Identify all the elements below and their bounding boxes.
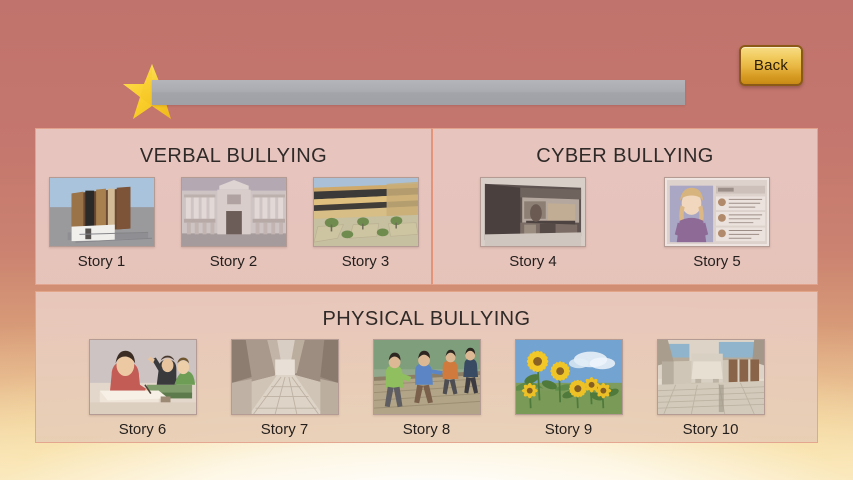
progress-bar (152, 80, 685, 105)
story-card-5[interactable]: Story 5 (664, 177, 770, 270)
back-button[interactable]: Back (739, 45, 803, 86)
story-card-7[interactable]: Story 7 (231, 339, 339, 438)
panel-title-cyber: CYBER BULLYING (433, 145, 817, 168)
story-card-2[interactable]: Story 2 (181, 177, 287, 270)
panel-cyber-bullying: CYBER BULLYING (431, 128, 818, 285)
story-label-7: Story 7 (231, 421, 339, 438)
story-card-9[interactable]: Story 9 (515, 339, 623, 438)
app-root: Back VERBAL BULLYING (0, 0, 853, 480)
back-button-label: Back (754, 57, 788, 74)
story-label-10: Story 10 (657, 421, 765, 438)
modern-building-thumb (49, 177, 155, 247)
story-label-1: Story 1 (49, 253, 155, 270)
story-list-physical: Story 6 (36, 339, 817, 438)
story-card-8[interactable]: Story 8 (373, 339, 481, 438)
classroom-thumb (89, 339, 197, 415)
story-label-9: Story 9 (515, 421, 623, 438)
story-label-6: Story 6 (89, 421, 197, 438)
story-list-verbal: Story 1 (36, 177, 431, 270)
restroom-thumb (657, 339, 765, 415)
panel-title-verbal: VERBAL BULLYING (36, 145, 431, 168)
panel-verbal-bullying: VERBAL BULLYING (35, 128, 431, 285)
story-label-8: Story 8 (373, 421, 481, 438)
header-bar: Back (0, 0, 853, 128)
panel-title-physical: PHYSICAL BULLYING (36, 308, 817, 331)
story-label-4: Story 4 (480, 253, 586, 270)
story-card-6[interactable]: Story 6 (89, 339, 197, 438)
story-label-3: Story 3 (313, 253, 419, 270)
story-card-3[interactable]: Story 3 (313, 177, 419, 270)
story-card-10[interactable]: Story 10 (657, 339, 765, 438)
sunflower-field-thumb (515, 339, 623, 415)
panel-physical-bullying: PHYSICAL BULLYING (35, 291, 818, 443)
story-card-4[interactable]: Story 4 (480, 177, 586, 270)
alley-corridor-thumb (231, 339, 339, 415)
story-list-cyber: Story 4 (433, 177, 817, 270)
school-courtyard-thumb (313, 177, 419, 247)
story-label-5: Story 5 (664, 253, 770, 270)
dark-interior-thumb (480, 177, 586, 247)
story-label-2: Story 2 (181, 253, 287, 270)
deck-figures-thumb (373, 339, 481, 415)
story-card-1[interactable]: Story 1 (49, 177, 155, 270)
social-profile-thumb (664, 177, 770, 247)
classical-building-thumb (181, 177, 287, 247)
